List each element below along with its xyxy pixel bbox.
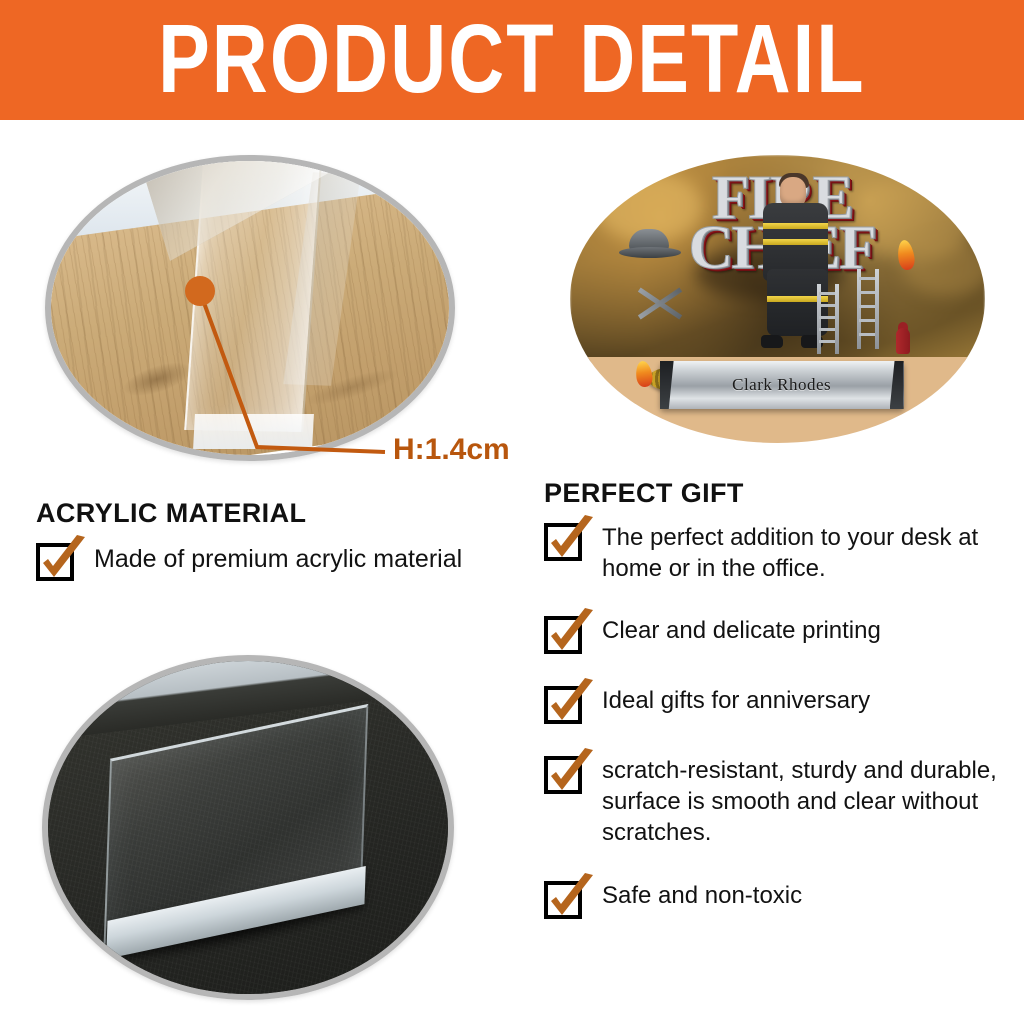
checkbox-checked[interactable] [544, 519, 586, 561]
acrylic-block-photo [42, 655, 454, 1000]
acrylic-edge-photo [45, 155, 455, 461]
checkmark-icon [36, 539, 88, 585]
engraved-name: Clark Rhodes [732, 375, 831, 395]
feature-item: The perfect addition to your desk at hom… [544, 517, 1004, 584]
feature-text: scratch-resistant, sturdy and durable, s… [602, 750, 1004, 848]
checkbox-checked[interactable] [544, 612, 586, 654]
feature-text: Safe and non-toxic [602, 875, 802, 912]
page-header-banner: PRODUCT DETAIL [0, 0, 1024, 120]
reflective-stripe [763, 239, 827, 245]
ladder-icon [817, 284, 839, 354]
height-callout-label: H:1.4cm [393, 433, 510, 467]
plaque-base: Clark Rhodes [660, 361, 904, 409]
helmet-brim [619, 247, 681, 258]
feature-list-perfect-gift: The perfect addition to your desk at hom… [544, 517, 1004, 945]
checkbox-checked[interactable] [544, 682, 586, 724]
ladder-icon [857, 269, 879, 349]
feature-item: Made of premium acrylic material [36, 537, 506, 581]
section-title-perfect-gift: PERFECT GIFT [544, 478, 744, 509]
reflective-stripe [763, 223, 827, 229]
checkbox-checked[interactable] [544, 877, 586, 919]
checkmark-icon [544, 752, 596, 798]
wood-table-scene [51, 161, 449, 455]
page-title: PRODUCT DETAIL [158, 11, 866, 108]
feature-item: Ideal gifts for anniversary [544, 680, 1004, 724]
plaque-artwork: FIRE CHIEF [636, 172, 927, 414]
feature-text: Clear and delicate printing [602, 610, 881, 647]
section-title-acrylic-material: ACRYLIC MATERIAL [36, 498, 306, 529]
feature-text: Made of premium acrylic material [94, 537, 462, 575]
plaque-scene: FIRE CHIEF [570, 155, 985, 443]
fire-chief-plaque-photo: FIRE CHIEF [570, 155, 985, 443]
checkmark-icon [544, 682, 596, 728]
feature-list-acrylic-material: Made of premium acrylic material [36, 537, 506, 607]
checkmark-icon [544, 519, 596, 565]
feature-item: scratch-resistant, sturdy and durable, s… [544, 750, 1004, 848]
checkmark-icon [544, 877, 596, 923]
feature-item: Safe and non-toxic [544, 875, 1004, 919]
acrylic-bottom-edge [193, 414, 314, 449]
firefighter-boot [761, 335, 783, 348]
checkmark-icon [544, 612, 596, 658]
feature-text: Ideal gifts for anniversary [602, 680, 870, 717]
hydrant-body [896, 328, 910, 354]
wood-grain-knot [120, 356, 195, 402]
crossed-axes-icon [631, 281, 689, 327]
checkbox-checked[interactable] [544, 752, 586, 794]
slate-scene [48, 661, 448, 994]
feature-text: The perfect addition to your desk at hom… [602, 517, 1004, 584]
fire-helmet-icon [619, 225, 681, 265]
fire-hydrant-icon [892, 322, 914, 356]
checkbox-checked[interactable] [36, 539, 78, 581]
product-detail-page: PRODUCT DETAIL [0, 0, 1024, 1024]
feature-item: Clear and delicate printing [544, 610, 1004, 654]
